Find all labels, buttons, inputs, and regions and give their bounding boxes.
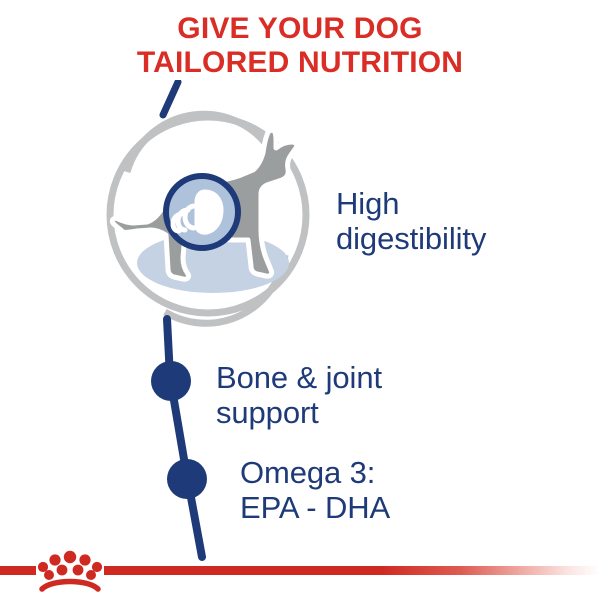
benefit-line-2: support (216, 395, 382, 430)
crown-dot (73, 565, 84, 576)
connector-dot-bone (151, 361, 191, 401)
footer-rule-left (0, 566, 36, 575)
crown-dot (79, 554, 90, 565)
crown-dot (92, 562, 102, 572)
page-title: GIVE YOUR DOG TAILORED NUTRITION (0, 12, 600, 79)
crown-dot (38, 562, 48, 572)
royal-canin-crown-logo (36, 548, 104, 594)
benefit-line-2: digestibility (336, 221, 486, 256)
crown-arc (42, 582, 98, 590)
footer-rule-right (104, 566, 600, 575)
dog-digestive-system-illustration (95, 80, 345, 340)
brand-footer (0, 540, 600, 600)
benefit-omega-3: Omega 3: EPA - DHA (240, 455, 390, 526)
connector-dot-omega (167, 459, 207, 499)
benefit-bone-joint-support: Bone & joint support (216, 360, 382, 431)
benefit-high-digestibility: High digestibility (336, 186, 486, 257)
benefit-line-1: Bone & joint (216, 360, 382, 395)
headline-line-2: TAILORED NUTRITION (0, 46, 600, 80)
headline-line-1: GIVE YOUR DOG (0, 12, 600, 46)
crown-dot (64, 551, 76, 563)
benefit-line-1: High (336, 186, 486, 221)
crown-dot (44, 570, 54, 580)
benefit-connector-line (140, 315, 270, 565)
benefit-line-2: EPA - DHA (240, 490, 390, 525)
crown-dot (86, 570, 96, 580)
crown-dot (49, 554, 60, 565)
benefit-line-1: Omega 3: (240, 455, 390, 490)
crown-dot (57, 565, 68, 576)
infographic-canvas: GIVE YOUR DOG TAILORED NUTRITION (0, 0, 600, 600)
pointer-line-icon (163, 82, 178, 115)
